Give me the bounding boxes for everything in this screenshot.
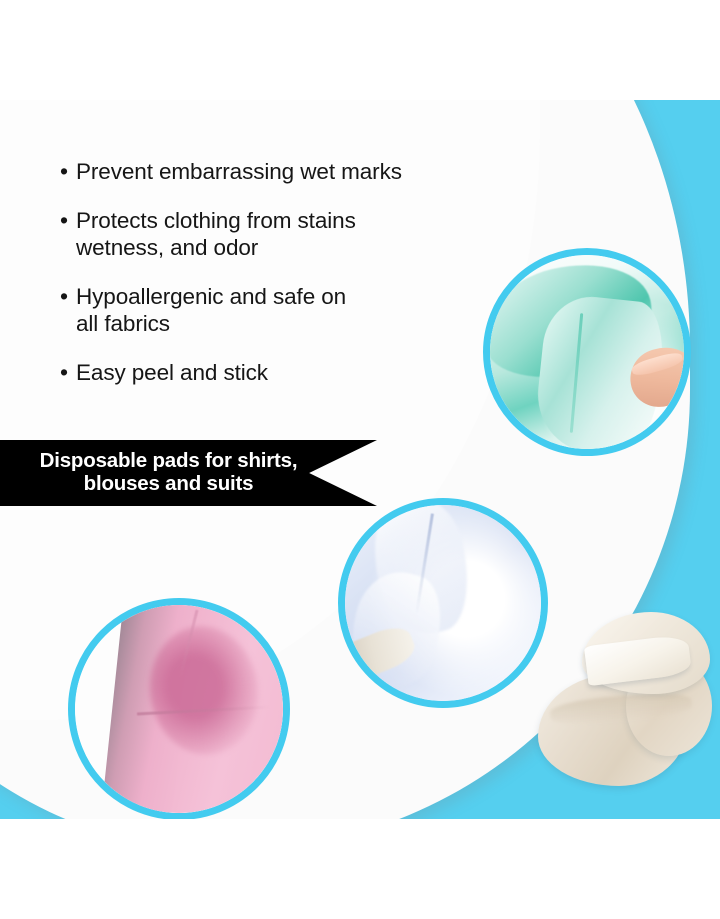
photo-circle-pink-shirt xyxy=(68,598,290,819)
photo-circle-blue-shirt xyxy=(338,498,548,708)
product-sweat-pads xyxy=(530,612,715,792)
bullet-point-icon: • xyxy=(60,283,76,310)
feature-bullet-text: Prevent embarrassing wet marks xyxy=(76,158,402,185)
photo-circle-mint-shirt xyxy=(483,248,691,456)
bullet-point-icon: • xyxy=(60,158,76,185)
letterbox-bottom xyxy=(0,819,720,919)
feature-bullet-list: • Prevent embarrassing wet marks • Prote… xyxy=(60,158,480,408)
bullet-point-icon: • xyxy=(60,207,76,234)
letterbox-top xyxy=(0,0,720,100)
feature-bullet-text: Protects clothing from stains wetness, a… xyxy=(76,207,356,261)
feature-bullet-text: Easy peel and stick xyxy=(76,359,268,386)
ribbon-banner-text: Disposable pads for shirts, blouses and … xyxy=(40,450,338,496)
bullet-point-icon: • xyxy=(60,359,76,386)
feature-bullet-item-4: • Easy peel and stick xyxy=(60,359,480,386)
feature-bullet-item-2: • Protects clothing from stains wetness,… xyxy=(60,207,480,261)
photo-blue-shirt-image xyxy=(345,505,541,701)
feature-bullet-item-1: • Prevent embarrassing wet marks xyxy=(60,158,480,185)
feature-bullet-item-3: • Hypoallergenic and safe on all fabrics xyxy=(60,283,480,337)
product-feature-graphic: • Prevent embarrassing wet marks • Prote… xyxy=(0,0,720,919)
feature-bullet-text: Hypoallergenic and safe on all fabrics xyxy=(76,283,346,337)
photo-pink-shirt-image xyxy=(75,605,283,813)
artboard: • Prevent embarrassing wet marks • Prote… xyxy=(0,100,720,819)
photo-mint-shirt-image xyxy=(490,255,684,449)
